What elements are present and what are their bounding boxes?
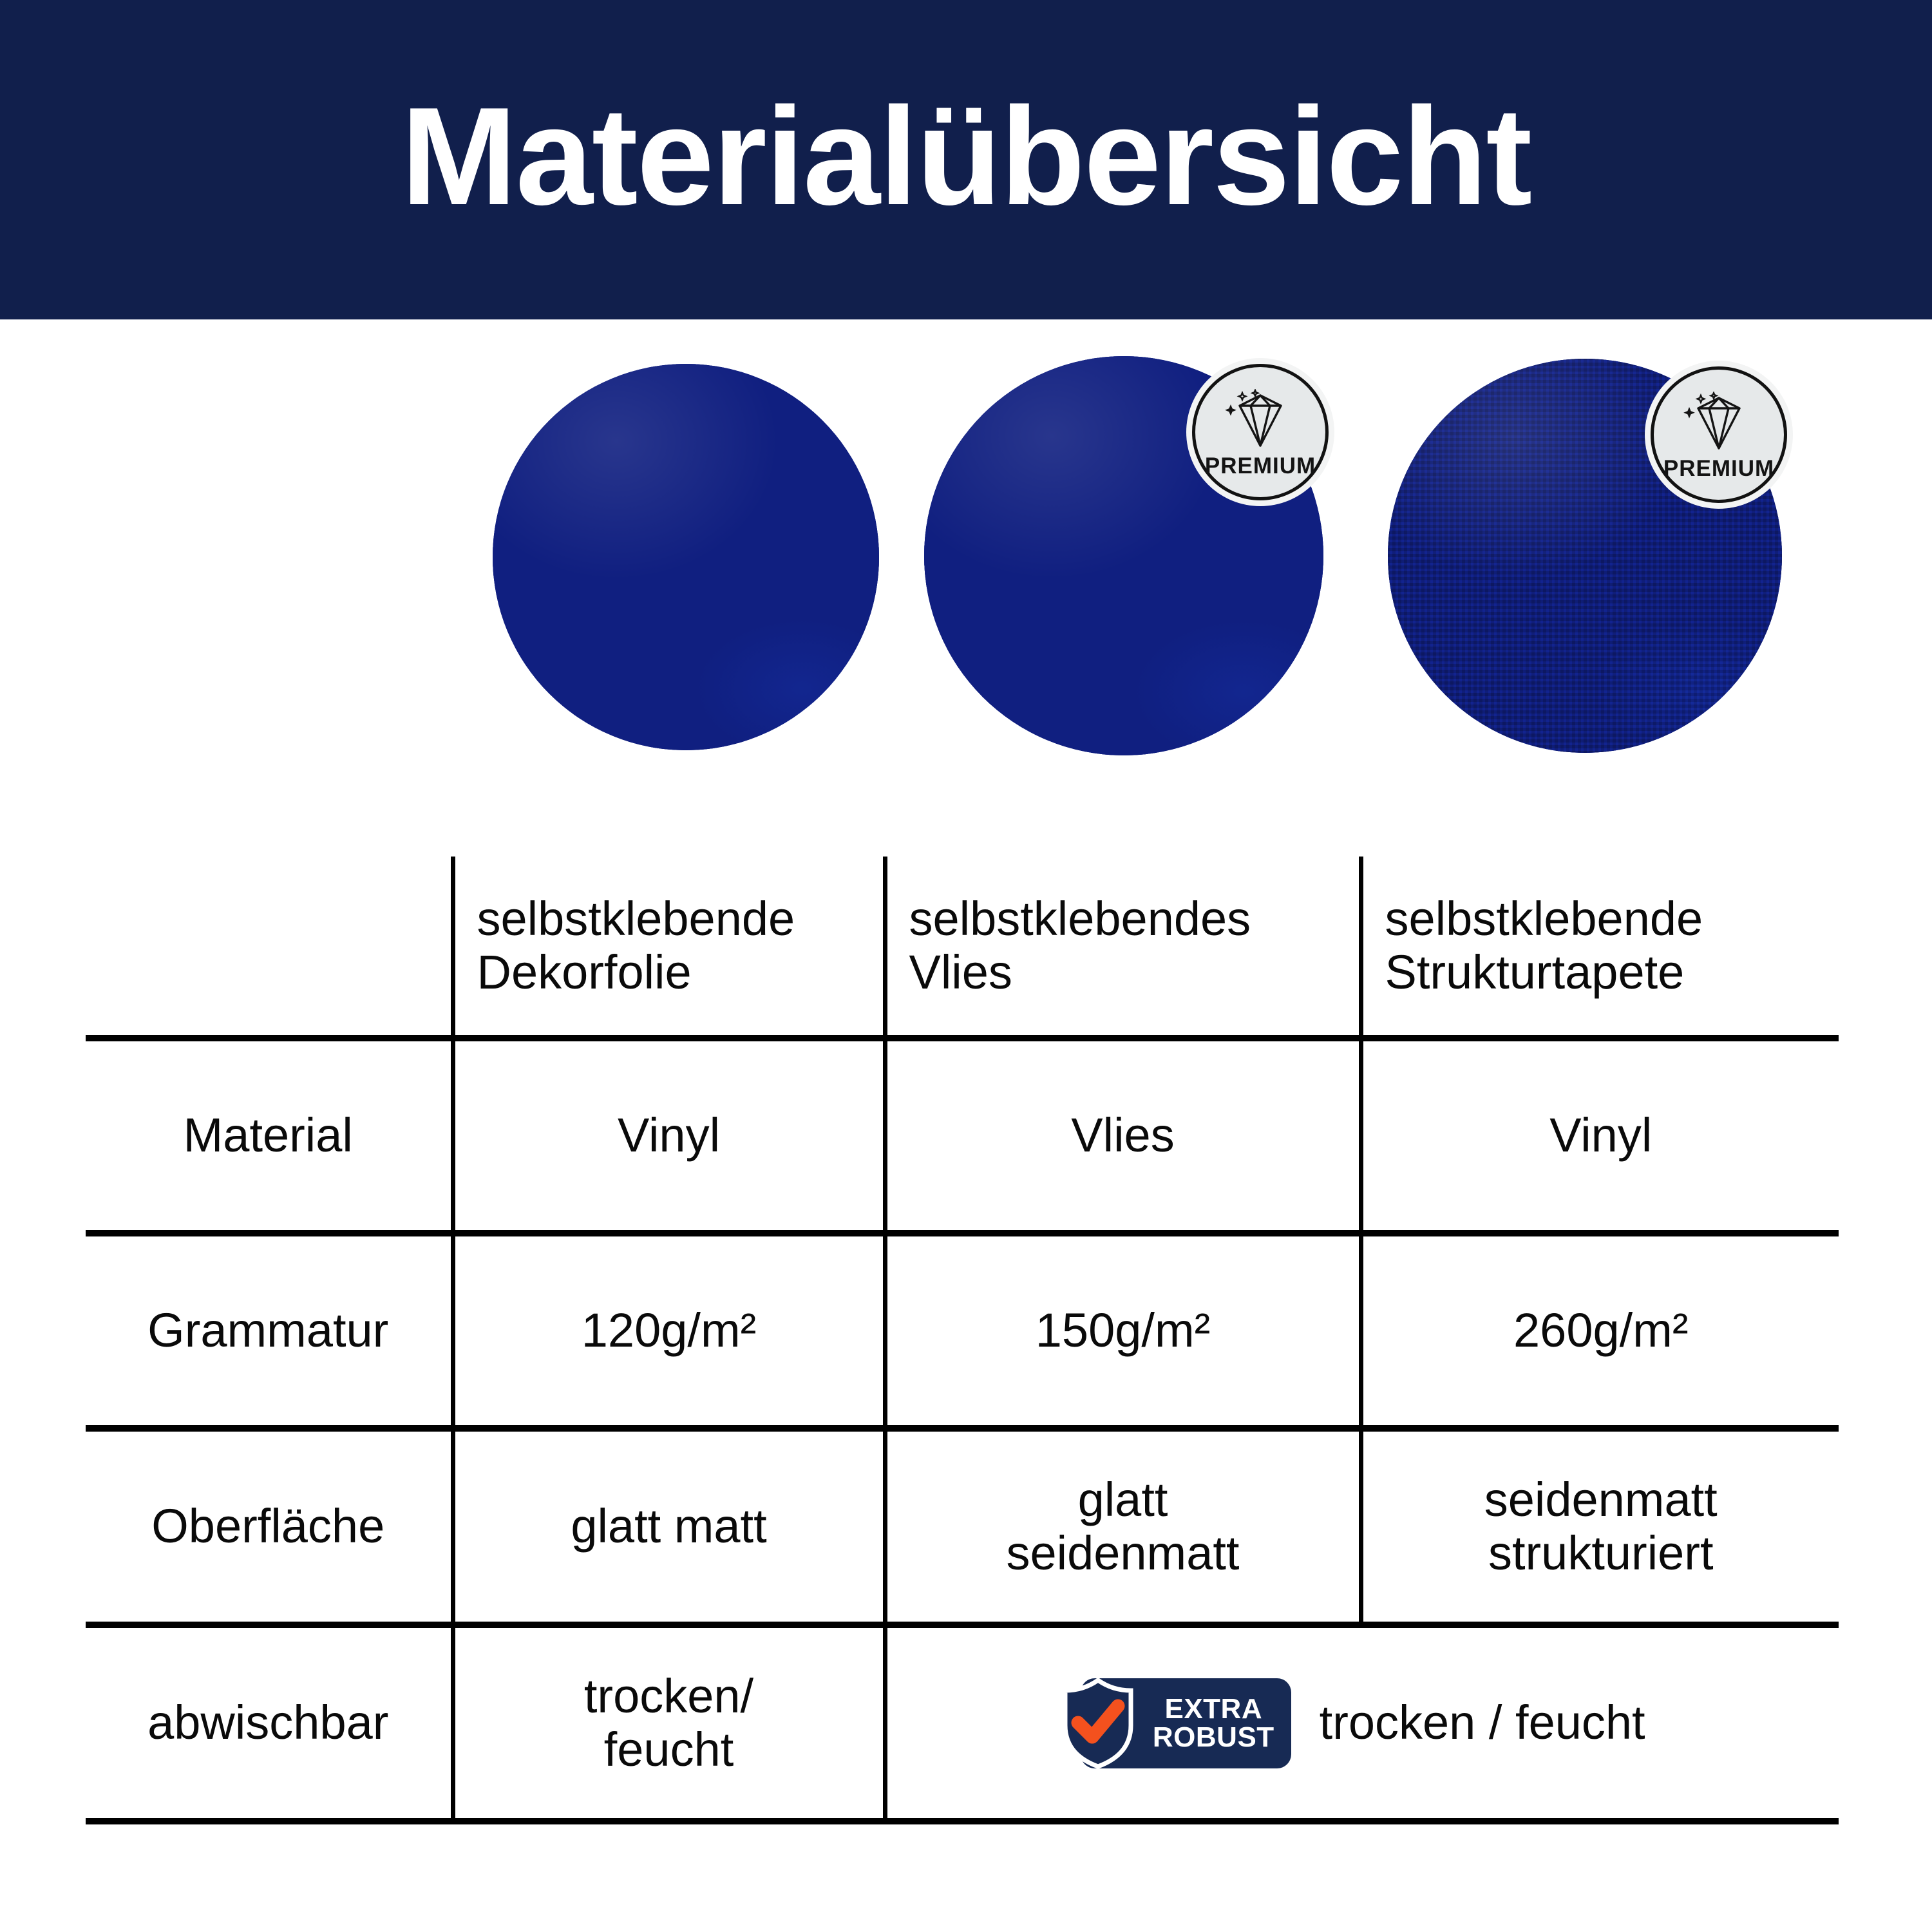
table-row-grammatur: Grammatur 120g/m² 150g/m² 260g/m²: [86, 1233, 1839, 1428]
row-label-oberflaeche: Oberfläche: [86, 1428, 453, 1625]
cell-abwischbar-value: trocken / feucht: [1320, 1696, 1645, 1750]
column-header-dekorfolie: selbstklebende Dekorfolie: [453, 857, 885, 1038]
table-header-corner: [86, 857, 453, 1038]
globe-land-1: [493, 364, 879, 750]
column-header-vlies: selbstklebendes Vlies: [885, 857, 1361, 1038]
cell-material-vlies: Vlies: [885, 1038, 1361, 1233]
cell-grammatur-strukturtapete: 260g/m²: [1361, 1233, 1839, 1428]
table-header-row: selbstklebende Dekorfolie selbstklebende…: [86, 857, 1839, 1038]
extra-robust-line1: EXTRA: [1153, 1695, 1274, 1723]
cell-oberflaeche-dekorfolie: glatt matt: [453, 1428, 885, 1625]
shield-check-icon: [1059, 1678, 1137, 1769]
material-preview-row: PREMIUM: [0, 351, 1932, 763]
extra-robust-label: EXTRA ROBUST: [1153, 1695, 1274, 1752]
diamond-icon: [1679, 392, 1759, 453]
material-preview-1: [493, 364, 879, 750]
cell-abwischbar-merged: EXTRA ROBUST trocken / feucht: [885, 1625, 1839, 1821]
material-preview-3: PREMIUM: [1388, 359, 1782, 753]
material-overview-infographic: Materialübersicht: [0, 0, 1932, 1932]
cell-abwischbar-dekorfolie: trocken/ feucht: [453, 1625, 885, 1821]
page-header: Materialübersicht: [0, 0, 1932, 319]
material-comparison-table: selbstklebende Dekorfolie selbstklebende…: [86, 857, 1839, 1824]
globe-ocean-1: [493, 364, 879, 750]
column-header-strukturtapete: selbstklebende Strukturtapete: [1361, 857, 1839, 1038]
cell-material-strukturtapete: Vinyl: [1361, 1038, 1839, 1233]
row-label-material: Material: [86, 1038, 453, 1233]
premium-badge-3: PREMIUM: [1651, 366, 1787, 503]
diamond-icon: [1220, 389, 1300, 451]
table-row-oberflaeche: Oberfläche glatt matt glatt seidenmatt s…: [86, 1428, 1839, 1625]
premium-badge-label: PREMIUM: [1205, 453, 1316, 479]
extra-robust-line2: ROBUST: [1153, 1723, 1274, 1752]
premium-badge-label: PREMIUM: [1663, 456, 1774, 482]
globe-image-1: [493, 364, 879, 750]
cell-grammatur-dekorfolie: 120g/m²: [453, 1233, 885, 1428]
page-title: Materialübersicht: [401, 86, 1531, 225]
material-preview-2: PREMIUM: [924, 356, 1323, 755]
extra-robust-badge: EXTRA ROBUST: [1081, 1678, 1291, 1768]
table-row-material: Material Vinyl Vlies Vinyl: [86, 1038, 1839, 1233]
table-row-abwischbar: abwischbar trocken/ feucht: [86, 1625, 1839, 1821]
premium-badge-2: PREMIUM: [1192, 364, 1329, 500]
row-label-abwischbar: abwischbar: [86, 1625, 453, 1821]
cell-material-dekorfolie: Vinyl: [453, 1038, 885, 1233]
cell-grammatur-vlies: 150g/m²: [885, 1233, 1361, 1428]
cell-oberflaeche-strukturtapete: seidenmatt strukturiert: [1361, 1428, 1839, 1625]
cell-oberflaeche-vlies: glatt seidenmatt: [885, 1428, 1361, 1625]
row-label-grammatur: Grammatur: [86, 1233, 453, 1428]
